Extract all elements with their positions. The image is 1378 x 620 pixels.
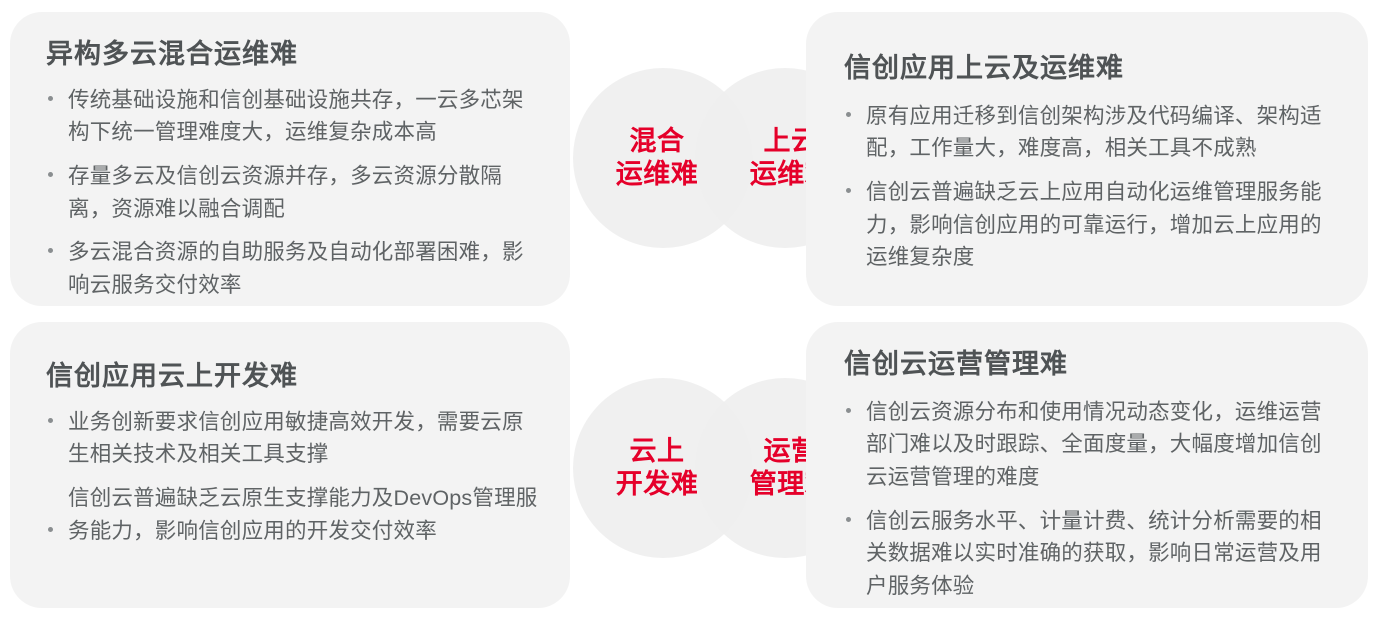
- bullet-dot-icon: [846, 112, 851, 117]
- card-title: 异构多云混合运维难: [46, 38, 542, 72]
- list-item-text: 信创云服务水平、计量计费、统计分析需要的相关数据难以实时准确的获取，影响日常运营…: [866, 505, 1340, 603]
- bullet-dot-icon: [48, 418, 53, 423]
- list-item-text: 传统基础设施和信创基础设施共存，一云多芯架构下统一管理难度大，运维复杂成本高: [68, 84, 542, 149]
- card-title: 信创应用上云及运维难: [844, 52, 1340, 86]
- bullet-dot-icon: [846, 408, 851, 413]
- venn-label-line1: 云上: [630, 435, 685, 468]
- bullet-dot-icon: [846, 188, 851, 193]
- list-item-text: 多云混合资源的自助服务及自动化部署困难，影响云服务交付效率: [68, 236, 542, 301]
- bullet-list: 业务创新要求信创应用敏捷高效开发，需要云原生相关技术及相关工具支撑 信创云普遍缺…: [46, 406, 542, 548]
- venn-label-line1: 混合: [630, 125, 685, 158]
- list-item-text: 信创云资源分布和使用情况动态变化，运维运营部门难以及时跟踪、全面度量，大幅度增加…: [866, 396, 1340, 494]
- list-item-text: 存量多云及信创云资源并存，多云资源分散隔离，资源难以融合调配: [68, 160, 542, 225]
- venn-label-line2: 开发难: [616, 468, 699, 501]
- bullet-dot-icon: [48, 172, 53, 177]
- bullet-dot-icon: [48, 248, 53, 253]
- list-item: 原有应用迁移到信创架构涉及代码编译、架构适配，工作量大，难度高，相关工具不成熟: [844, 100, 1340, 165]
- card-hybrid-multicloud-ops: 异构多云混合运维难 传统基础设施和信创基础设施共存，一云多芯架构下统一管理难度大…: [10, 12, 570, 306]
- list-item: 信创云普遍缺乏云原生支撑能力及DevOps管理服务能力，影响信创应用的开发交付效…: [46, 482, 542, 547]
- list-item-text: 信创云普遍缺乏云上应用自动化运维管理服务能力，影响信创应用的可靠运行，增加云上应…: [866, 176, 1340, 274]
- bullet-list: 传统基础设施和信创基础设施共存，一云多芯架构下统一管理难度大，运维复杂成本高 存…: [46, 84, 542, 302]
- card-title: 信创应用云上开发难: [46, 360, 542, 394]
- bullet-dot-icon: [48, 527, 53, 532]
- list-item-text: 业务创新要求信创应用敏捷高效开发，需要云原生相关技术及相关工具支撑: [68, 406, 542, 471]
- bullet-dot-icon: [846, 517, 851, 522]
- list-item: 信创云资源分布和使用情况动态变化，运维运营部门难以及时跟踪、全面度量，大幅度增加…: [844, 396, 1340, 494]
- list-item: 多云混合资源的自助服务及自动化部署困难，影响云服务交付效率: [46, 236, 542, 301]
- card-title: 信创云运营管理难: [844, 348, 1340, 382]
- bullet-list: 信创云资源分布和使用情况动态变化，运维运营部门难以及时跟踪、全面度量，大幅度增加…: [844, 396, 1340, 603]
- card-app-cloud-migration-ops: 信创应用上云及运维难 原有应用迁移到信创架构涉及代码编译、架构适配，工作量大，难…: [806, 12, 1368, 306]
- list-item: 传统基础设施和信创基础设施共存，一云多芯架构下统一管理难度大，运维复杂成本高: [46, 84, 542, 149]
- card-cloud-operations-mgmt: 信创云运营管理难 信创云资源分布和使用情况动态变化，运维运营部门难以及时跟踪、全…: [806, 322, 1368, 608]
- list-item: 信创云服务水平、计量计费、统计分析需要的相关数据难以实时准确的获取，影响日常运营…: [844, 505, 1340, 603]
- bullet-list: 原有应用迁移到信创架构涉及代码编译、架构适配，工作量大，难度高，相关工具不成熟 …: [844, 100, 1340, 274]
- venn-label-line2: 运维难: [616, 158, 699, 191]
- list-item: 信创云普遍缺乏云上应用自动化运维管理服务能力，影响信创应用的可靠运行，增加云上应…: [844, 176, 1340, 274]
- bullet-dot-icon: [48, 96, 53, 101]
- list-item: 业务创新要求信创应用敏捷高效开发，需要云原生相关技术及相关工具支撑: [46, 406, 542, 471]
- card-app-cloud-development: 信创应用云上开发难 业务创新要求信创应用敏捷高效开发，需要云原生相关技术及相关工…: [10, 322, 570, 608]
- list-item: 存量多云及信创云资源并存，多云资源分散隔离，资源难以融合调配: [46, 160, 542, 225]
- list-item-text: 原有应用迁移到信创架构涉及代码编译、架构适配，工作量大，难度高，相关工具不成熟: [866, 100, 1340, 165]
- list-item-text: 信创云普遍缺乏云原生支撑能力及DevOps管理服务能力，影响信创应用的开发交付效…: [68, 482, 542, 547]
